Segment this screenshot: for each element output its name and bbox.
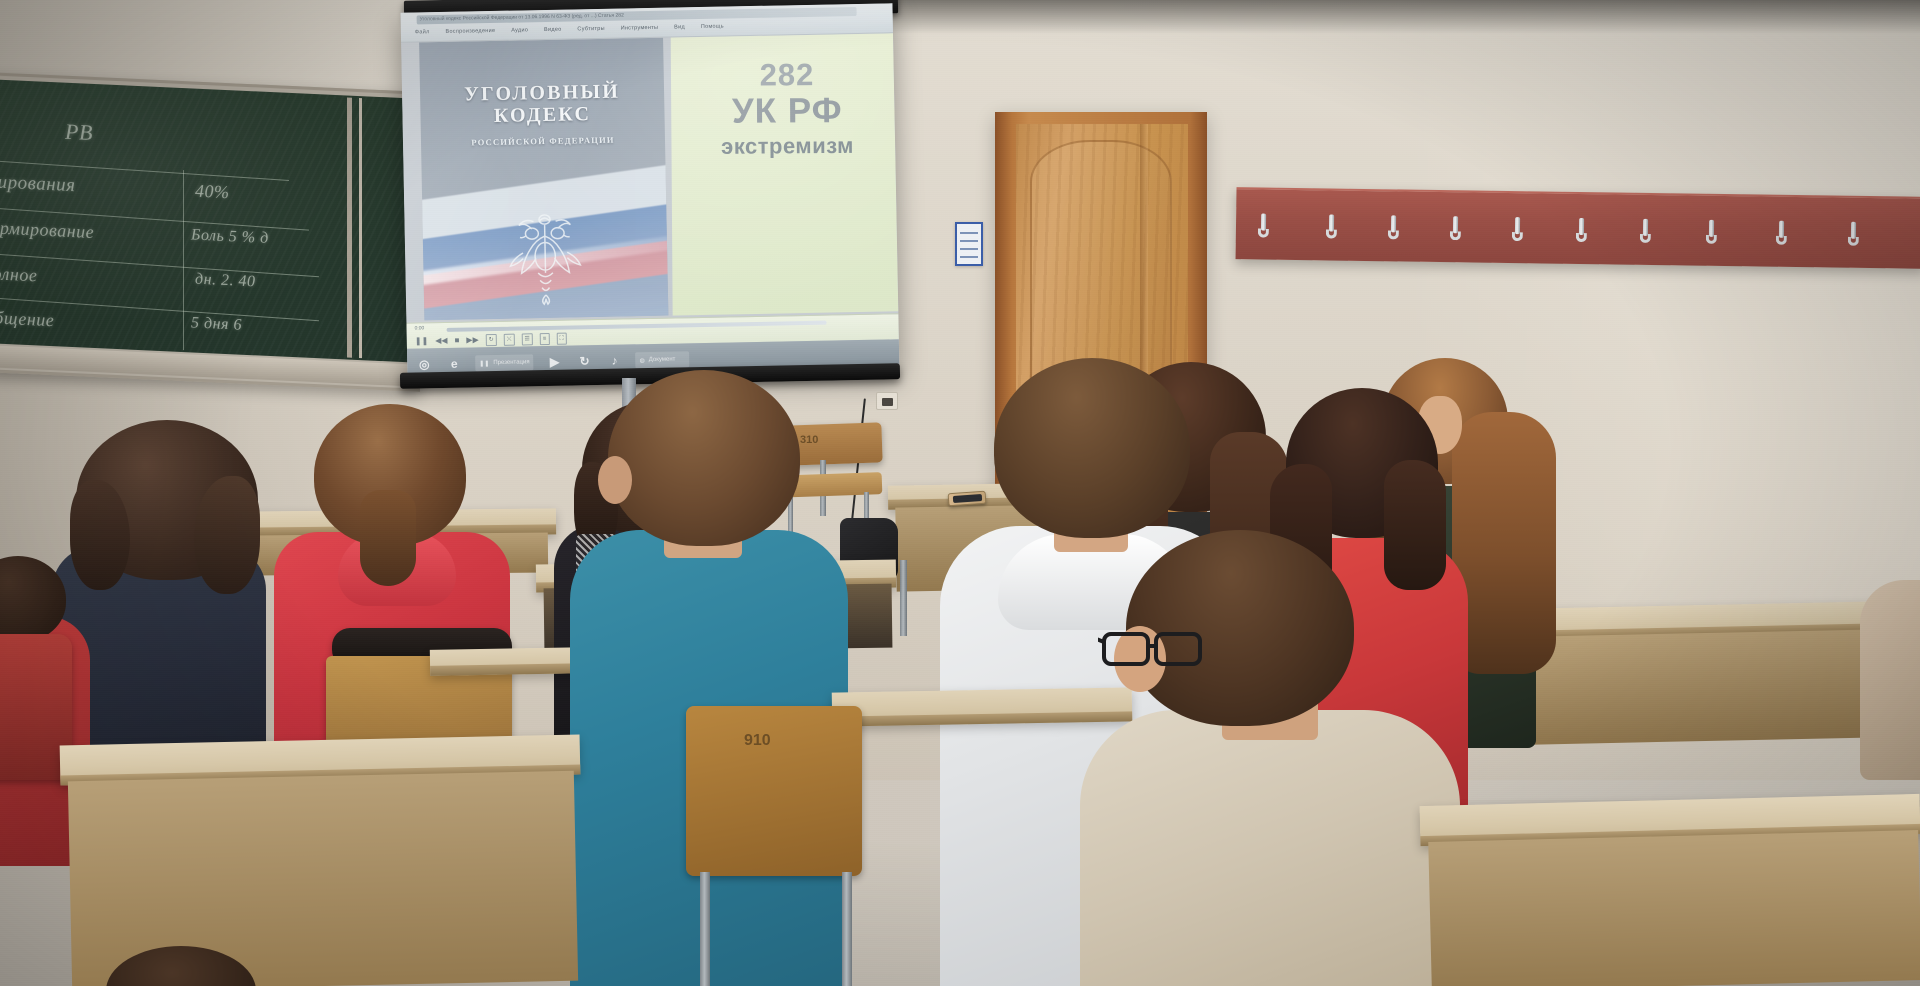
article-panel: 282 УК РФ экстремизм: [671, 33, 899, 320]
glasses-icon: [1098, 618, 1206, 678]
chalk-rule: [0, 160, 289, 181]
chalk-row-2-value: дн. 2. 40: [195, 271, 256, 292]
chalk-row-3-label: общение: [0, 307, 54, 331]
coat-hook[interactable]: [1258, 213, 1269, 239]
menu-item-audio[interactable]: Аудио: [511, 27, 528, 33]
coat-hook[interactable]: [1706, 220, 1717, 246]
next-icon[interactable]: ▶▶: [466, 335, 479, 345]
desk-foreground-center: [832, 687, 1133, 726]
projector-screen: Уголовный кодекс Российской Федерации от…: [401, 3, 900, 380]
menu-item-video[interactable]: Видео: [544, 27, 562, 33]
play-icon[interactable]: ▶: [545, 353, 563, 371]
chalk-rule: [0, 253, 319, 277]
coat-hook[interactable]: [1388, 215, 1399, 241]
edge-icon[interactable]: e: [445, 355, 463, 373]
coat-hook[interactable]: [1326, 214, 1337, 240]
chair-number: 310: [800, 434, 818, 446]
hair-strand: [194, 476, 260, 594]
smartphone-on-desk[interactable]: [948, 491, 987, 507]
media-player-icon: ❚❚: [479, 360, 489, 367]
menu-item-tools[interactable]: Инструменты: [621, 25, 659, 32]
coat-rack: [1236, 187, 1920, 269]
refresh-icon[interactable]: ↻: [575, 352, 593, 370]
chalkboard-panel-divider: [347, 97, 352, 357]
coat-hook[interactable]: [1776, 221, 1787, 247]
hair-strand: [1384, 460, 1446, 590]
criminal-code-book-cover: УГОЛОВНЫЙ КОДЕКС РОССИЙСКОЙ ФЕДЕРАЦИИ: [419, 38, 668, 321]
playback-time: 0:00: [415, 325, 425, 331]
chair-leg: [700, 872, 710, 986]
fullscreen-icon[interactable]: ⛶: [556, 333, 566, 345]
menu-item-help[interactable]: Помощь: [701, 24, 724, 30]
torso: [1080, 710, 1460, 986]
double-headed-eagle-icon: [498, 207, 592, 313]
chair-backrest-foreground: [686, 706, 862, 876]
power-outlet: [876, 392, 898, 410]
music-icon[interactable]: ♪: [605, 352, 623, 370]
topic-label: экстремизм: [671, 133, 898, 161]
code-abbreviation: УК РФ: [671, 91, 898, 133]
hair: [994, 358, 1190, 538]
chalk-header: РВ: [65, 119, 93, 146]
chalkboard: РВ мирования 40% нормирование Боль 5 % д…: [0, 72, 420, 392]
ceiling-shadow: [880, 0, 1920, 34]
slide-content: УГОЛОВНЫЙ КОДЕКС РОССИЙСКОЙ ФЕДЕРАЦИИ: [401, 33, 898, 320]
ponytail: [360, 490, 416, 586]
classroom-photo: РВ мирования 40% нормирование Боль 5 % д…: [0, 0, 1920, 986]
taskbar-window-document[interactable]: ◍ Документ: [635, 351, 689, 368]
coat-hook[interactable]: [1848, 222, 1859, 248]
seek-slider[interactable]: [447, 321, 827, 332]
menu-item-subtitles[interactable]: Субтитры: [577, 26, 605, 33]
coat-hook[interactable]: [1576, 218, 1587, 244]
chalk-row-2-label: полное: [0, 263, 37, 286]
user-icon: ◍: [639, 357, 644, 364]
loop-icon[interactable]: ↻: [486, 334, 497, 346]
desk-front-panel: [1428, 830, 1920, 986]
coat-hook[interactable]: [1450, 216, 1461, 242]
chalk-column-divider: [183, 170, 184, 350]
menu-item-playback[interactable]: Воспроизведение: [445, 28, 495, 35]
wall-notice-sign: [955, 222, 983, 266]
chalkboard-panel-divider: [359, 98, 362, 358]
taskbar-chip-label-1: Документ: [649, 357, 676, 364]
coat-hook[interactable]: [1640, 219, 1651, 245]
chair-leg: [842, 872, 852, 986]
book-title: УГОЛОВНЫЙ КОДЕКС: [420, 80, 665, 129]
shuffle-icon[interactable]: ⤬: [504, 334, 515, 346]
arm: [1860, 580, 1920, 780]
article-number: 282: [671, 57, 898, 95]
desk-leg: [900, 560, 907, 636]
chalk-row-3-value: 5 дня 6: [191, 314, 242, 334]
ear: [598, 456, 632, 504]
chair-number: 910: [744, 732, 771, 750]
search-icon[interactable]: ◎: [415, 355, 433, 373]
book-title-line-2: КОДЕКС: [420, 102, 664, 129]
extended-settings-icon[interactable]: ≡: [540, 333, 550, 345]
pause-icon[interactable]: ❚❚: [415, 336, 429, 346]
previous-icon[interactable]: ◀◀: [435, 336, 448, 346]
chalkboard-surface: РВ мирования 40% нормирование Боль 5 % д…: [0, 80, 413, 363]
taskbar-window-media-player[interactable]: ❚❚ Презентация: [475, 354, 534, 371]
menu-item-view[interactable]: Вид: [674, 24, 685, 30]
chalk-row-1-label: нормирование: [0, 217, 94, 243]
chalk-rule: [0, 207, 309, 230]
chalk-rule: [0, 297, 319, 321]
menu-item-file[interactable]: Файл: [415, 29, 430, 35]
coat-hook[interactable]: [1512, 217, 1523, 243]
chalk-row-0-label: мирования: [0, 171, 76, 197]
taskbar-chip-label-0: Презентация: [493, 359, 529, 366]
chalk-row-0-value: 40%: [195, 181, 230, 204]
book-subtitle: РОССИЙСКОЙ ФЕДЕРАЦИИ: [421, 134, 665, 149]
hair: [608, 370, 800, 546]
playlist-icon[interactable]: ☰: [521, 333, 533, 345]
stop-icon[interactable]: ■: [454, 336, 459, 346]
chalk-row-1-value: Боль 5 % д: [191, 226, 269, 248]
